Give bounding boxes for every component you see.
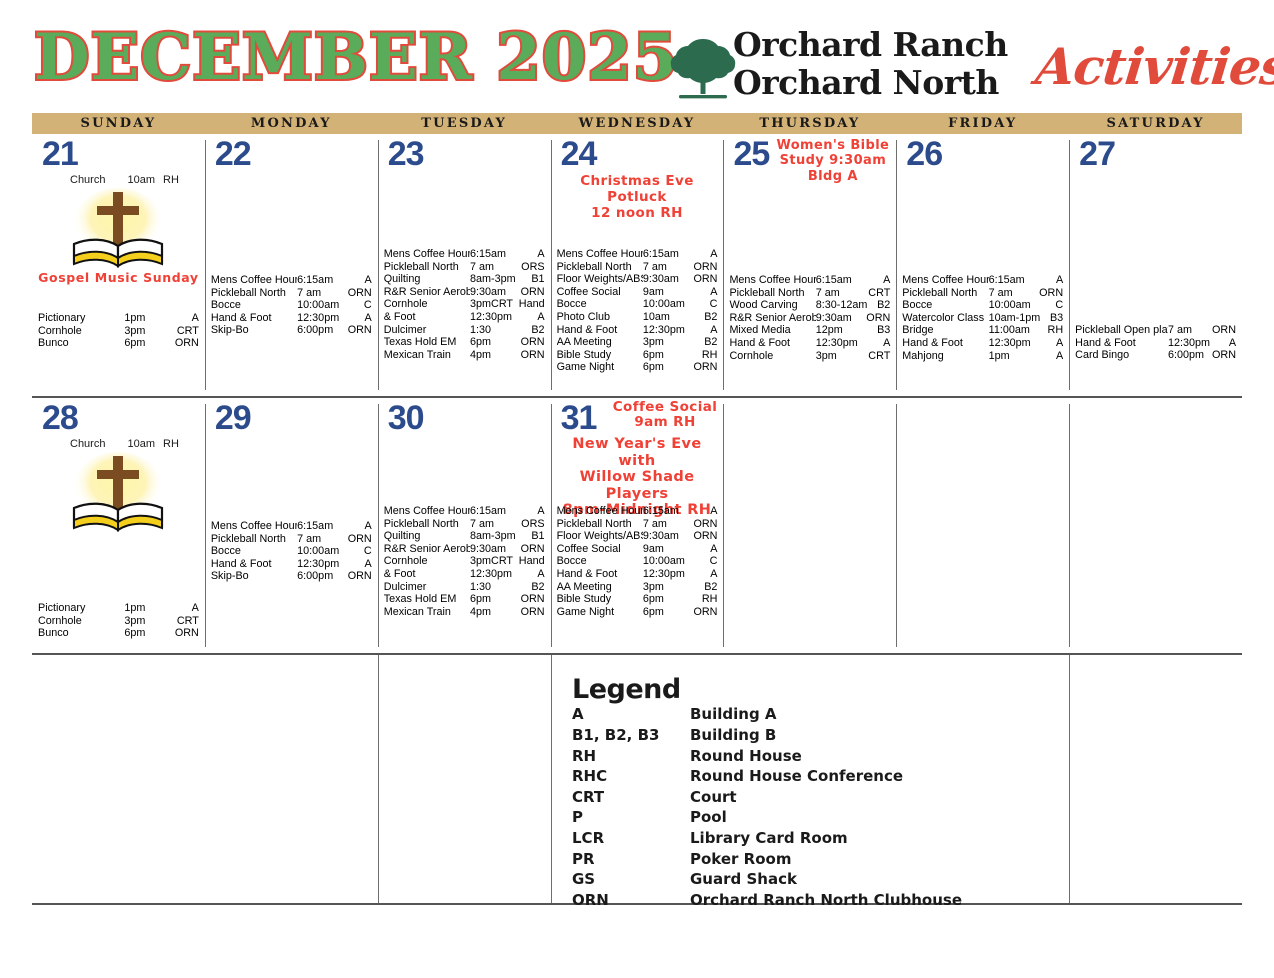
event-time: 8am-3pm [470,273,516,286]
event-time: 6:15am [643,505,689,518]
org-name-line2: Orchard North [733,64,1008,102]
day-cell-27[interactable]: 27 Pickleball Open play7 amORN Hand & Fo… [1069,134,1242,396]
page-header: DECEMBER 2025 Orchard Ranch Orchard Nort… [0,0,1274,108]
event-name: Floor Weights/ABS [557,273,643,286]
event-item[interactable]: Mixed Media12pmB3 [729,324,892,337]
event-location: ORN [688,273,719,286]
event-item[interactable]: Game Night6pmORN [557,606,720,619]
event-location: C [343,299,374,312]
legend-desc: Round House [690,746,1032,767]
event-name: Pickleball North [384,518,470,531]
event-list: Mens Coffee Hour6:15amA Pickleball North… [557,505,720,618]
event-item[interactable]: Hand & Foot12:30pmA [557,324,720,337]
event-location: A [170,602,201,615]
event-name: Bunco [38,627,124,640]
event-item[interactable]: Cornhole3pmCRTHand [384,555,547,568]
event-name: Bocce [557,555,643,568]
event-time: 10:00am [643,555,689,568]
event-location: A [1034,274,1065,287]
legend-desc: Library Card Room [690,828,1032,849]
event-item[interactable]: Mens Coffee Hour6:15amA [557,248,720,261]
event-item[interactable]: Hand & Foot12:30pmA [211,558,374,571]
event-name: Coffee Social [557,286,643,299]
tree-icon [666,33,740,107]
event-time: 10:00am [297,299,343,312]
event-name: Pictionary [38,602,124,615]
event-list: Mens Coffee Hour6:15amA Pickleball North… [211,520,374,583]
event-time: 7 am [470,261,516,274]
day-number: 22 [215,137,251,171]
legend-abbr: RHC [572,766,690,787]
event-time: 12:30pm [643,324,689,337]
event-location: B2 [516,581,547,594]
event-time: 12:30pm [1168,337,1207,350]
event-time: 6pm [470,336,516,349]
weekday-saturday: SATURDAY [1069,113,1242,134]
legend-item: GSGuard Shack [572,869,1032,890]
event-name: Mens Coffee Hour [384,248,470,261]
event-time: 12:30pm [297,558,343,571]
event-name: Texas Hold EM [384,593,470,606]
day-cell-26[interactable]: 26 Mens Coffee Hour6:15amA Pickleball No… [896,134,1069,396]
event-list: Mens Coffee Hour6:15amA Pickleball North… [557,248,720,374]
event-location: ORN [688,606,719,619]
event-location: B2 [688,581,719,594]
legend-desc: Pool [690,807,1032,828]
event-location: B3 [861,324,892,337]
event-item[interactable]: AA Meeting3pmB2 [557,581,720,594]
event-location: B1 [516,530,547,543]
event-name: Cornhole [38,615,124,628]
event-item[interactable]: Pickleball North7 amORN [211,287,374,300]
event-item[interactable]: Dulcimer1:30B2 [384,581,547,594]
legend-item: LCRLibrary Card Room [572,828,1032,849]
event-time: 1:30 [470,324,516,337]
event-item[interactable]: Photo Club10amB2 [557,311,720,324]
event-item[interactable]: Floor Weights/ABS9:30amORN [557,273,720,286]
cross-bible-icon [58,450,178,538]
event-location: A [688,248,719,261]
weekday-monday: MONDAY [205,113,378,134]
legend-item: PRPoker Room [572,849,1032,870]
event-name: R&R Senior Aerobics [384,286,470,299]
event-location: CRT [170,615,201,628]
legend-item: B1, B2, B3Building B [572,725,1032,746]
event-item[interactable]: Pickleball North7 amORN [902,287,1065,300]
event-item[interactable]: Mens Coffee Hour6:15amA [211,274,374,287]
day-cell-empty-thu [723,398,896,653]
event-location: A [516,568,547,581]
event-item[interactable]: Hand & Foot12:30pmA [557,568,720,581]
event-item[interactable]: Bible Study6pmRH [557,349,720,362]
event-time: 12:30pm [297,312,343,325]
day-cell-21[interactable]: 21 Church10amRH [32,134,205,396]
event-name: AA Meeting [557,581,643,594]
legend-abbr: A [572,704,690,725]
event-location: C [1034,299,1065,312]
event-time: 9am [643,543,689,556]
event-location: A [343,312,374,325]
event-name: Bocce [211,545,297,558]
event-location: ORN [516,349,547,362]
event-item[interactable]: Hand & Foot12:30pmA [1075,337,1238,350]
event-item[interactable]: Hand & Foot12:30pmA [211,312,374,325]
day-number: 24 [561,137,597,171]
event-time: 6:00pm [297,324,343,337]
event-list: Mens Coffee Hour6:15amA Pickleball North… [384,505,547,618]
event-item[interactable]: Quilting8am-3pmB1 [384,530,547,543]
event-name: Mens Coffee Hour [211,274,297,287]
legend-desc: Building A [690,704,1032,725]
event-item[interactable]: Cornhole3pmCRTHand [384,298,547,311]
event-name: Pickleball North [211,533,297,546]
event-location: B2 [688,311,719,324]
weekday-friday: FRIDAY [896,113,1069,134]
event-name: Mens Coffee Hour [902,274,988,287]
calendar-page: DECEMBER 2025 Orchard Ranch Orchard Nort… [0,0,1274,978]
legend: Legend ABuilding A B1, B2, B3Building B … [572,676,1032,910]
coffee-social-note: Coffee Social 9am RH [609,400,722,430]
event-time: 12:30pm [470,568,516,581]
event-time: 7 am [643,518,689,531]
event-item[interactable]: Pickleball North7 amORN [557,518,720,531]
weekday-tuesday: TUESDAY [378,113,551,134]
event-item[interactable]: Skip-Bo6:00pmORN [211,570,374,583]
legend-desc: Round House Conference [690,766,1032,787]
day-number: 28 [42,401,78,435]
event-time: 3pmCRT [470,298,516,311]
event-location: C [688,555,719,568]
church-location: RH [163,174,179,186]
event-location: ORN [688,518,719,531]
event-item[interactable]: R&R Senior Aerobics9:30amORN [729,312,892,325]
legend-abbr: PR [572,849,690,870]
day-cell-empty-fri [896,398,1069,653]
event-location: Hand [516,555,547,568]
event-location: B3 [1034,312,1065,325]
event-name: Coffee Social [557,543,643,556]
special-event-note: Christmas Eve Potluck 12 noon RH [559,174,716,222]
event-time: 12:30pm [816,337,862,350]
event-name: Pickleball North [211,287,297,300]
event-name: Hand & Foot [557,568,643,581]
event-time: 1pm [124,312,170,325]
event-name: Bible Study [557,349,643,362]
day-cell-25[interactable]: 25 Women's Bible Study 9:30am Bldg A Men… [723,134,896,396]
event-name: Pickleball North [902,287,988,300]
legend-desc: Orchard Ranch North Clubhouse [690,890,1032,911]
event-name: Hand & Foot [1075,337,1168,350]
special-event-note: Women's Bible Study 9:30am Bldg A [771,138,894,184]
event-time: 7 am [643,261,689,274]
day-number: 21 [42,137,78,171]
event-name: & Foot [384,568,470,581]
event-item[interactable]: Pickleball North7 amORN [557,261,720,274]
event-time: 6pm [124,337,170,350]
event-location: A [343,520,374,533]
event-item[interactable]: Bocce10:00amC [557,555,720,568]
event-item[interactable]: Pictionary1pmA [38,602,201,615]
event-item[interactable]: Cornhole3pmCRT [729,350,892,363]
event-item[interactable]: Mens Coffee Hour6:15amA [557,505,720,518]
legend-title: Legend [572,676,1032,704]
event-location: A [516,505,547,518]
event-item[interactable]: Mahjong1pmA [902,350,1065,363]
day-number: 27 [1079,137,1115,171]
event-time: 6:00pm [297,570,343,583]
event-item[interactable]: Bocce10:00amC [557,298,720,311]
event-item[interactable]: Texas Hold EM6pmORN [384,593,547,606]
event-item[interactable]: Pickleball Open play7 amORN [1075,324,1238,337]
event-time: 7 am [989,287,1035,300]
legend-item: ORNOrchard Ranch North Clubhouse [572,890,1032,911]
event-item[interactable]: Bocce10:00amC [902,299,1065,312]
day-number: 31 [561,401,597,435]
event-name: Hand & Foot [902,337,988,350]
weekday-thursday: THURSDAY [723,113,896,134]
event-item[interactable]: Pickleball North7 amORS [384,518,547,531]
event-location: A [343,274,374,287]
event-item[interactable]: R&R Senior Aerobics9:30amORN [384,286,547,299]
event-time: 6pm [643,606,689,619]
event-time: 4pm [470,349,516,362]
event-item[interactable]: Hand & Foot12:30pmA [902,337,1065,350]
event-item[interactable]: Pickleball North7 amORN [211,533,374,546]
day-number: 25 [733,137,769,171]
day-number: 26 [906,137,942,171]
event-location: ORN [343,324,374,337]
event-name: Cornhole [384,298,470,311]
event-location: A [343,558,374,571]
event-item[interactable]: Coffee Social9amA [557,286,720,299]
event-item[interactable]: Bridge11:00amRH [902,324,1065,337]
week-row: 21 Church10amRH [32,134,1242,398]
event-item[interactable]: Bocce10:00amC [211,299,374,312]
event-item[interactable]: & Foot12:30pmA [384,568,547,581]
event-name: Pickleball North [557,518,643,531]
event-name: Skip-Bo [211,570,297,583]
legend-cell-mon [205,655,378,903]
event-list: Pickleball Open play7 amORN Hand & Foot1… [1075,324,1238,362]
event-time: 12:30pm [470,311,516,324]
event-name: Bocce [557,298,643,311]
event-item[interactable]: Cornhole3pmCRT [38,615,201,628]
event-time: 9:30am [470,286,516,299]
event-location: ORN [343,570,374,583]
day-cell-30[interactable]: 30 Mens Coffee Hour6:15amA Pickleball No… [378,398,551,653]
event-name: AA Meeting [557,336,643,349]
event-location: ORN [688,361,719,374]
event-item[interactable]: Mens Coffee Hour6:15amA [211,520,374,533]
event-time: 6pm [124,627,170,640]
event-time: 9:30am [470,543,516,556]
event-time: 10:00am [643,298,689,311]
event-time: 3pm [124,325,170,338]
legend-desc: Court [690,787,1032,808]
event-item[interactable]: Texas Hold EM6pmORN [384,336,547,349]
event-time: 1pm [124,602,170,615]
legend-abbr: LCR [572,828,690,849]
event-item[interactable]: Pictionary1pmA [38,312,201,325]
event-item[interactable]: Skip-Bo6:00pmORN [211,324,374,337]
event-name: Cornhole [38,325,124,338]
event-name: Bible Study [557,593,643,606]
legend-cell-sat [1069,655,1242,903]
legend-abbr: P [572,807,690,828]
event-time: 10:00am [297,545,343,558]
legend-abbr: CRT [572,787,690,808]
event-time: 12:30pm [643,568,689,581]
event-item[interactable]: Watercolor Class10am-1pmB3 [902,312,1065,325]
legend-item: PPool [572,807,1032,828]
event-item[interactable]: Dulcimer1:30B2 [384,324,547,337]
event-name: Quilting [384,530,470,543]
event-item[interactable]: Mens Coffee Hour6:15amA [384,505,547,518]
event-time: 9:30am [816,312,862,325]
event-location: ORN [1207,349,1238,362]
event-list: Mens Coffee Hour6:15amA Pickleball North… [729,274,892,362]
event-item[interactable]: Bible Study6pmRH [557,593,720,606]
event-name: Game Night [557,606,643,619]
event-time: 11:00am [989,324,1035,337]
event-item[interactable]: Coffee Social9amA [557,543,720,556]
event-name: Dulcimer [384,581,470,594]
event-time: 6pm [643,361,689,374]
event-item[interactable]: Card Bingo6:00pmORN [1075,349,1238,362]
event-location: A [1034,350,1065,363]
church-time: 10am [127,174,155,186]
church-label: Church [70,174,105,186]
event-location: A [688,543,719,556]
day-cell-29[interactable]: 29 Mens Coffee Hour6:15amA Pickleball No… [205,398,378,653]
event-item[interactable]: & Foot12:30pmA [384,311,547,324]
event-item[interactable]: Hand & Foot12:30pmA [729,337,892,350]
event-location: B2 [861,299,892,312]
event-name: Mahjong [902,350,988,363]
event-list: Mens Coffee Hour6:15amA Pickleball North… [384,248,547,361]
event-item[interactable]: Floor Weights/ABS9:30amORN [557,530,720,543]
event-location: A [688,286,719,299]
gospel-music-caption: Gospel Music Sunday [32,270,205,285]
event-time: 12:30pm [989,337,1035,350]
event-name: Pickleball Open play [1075,324,1168,337]
legend-item: RHRound House [572,746,1032,767]
event-name: Bunco [38,337,124,350]
weekday-sunday: SUNDAY [32,113,205,134]
event-location: A [688,324,719,337]
event-location: A [688,505,719,518]
event-item[interactable]: Mexican Train4pmORN [384,606,547,619]
event-location: ORN [343,533,374,546]
event-location: ORN [1207,324,1238,337]
event-location: CRT [170,325,201,338]
event-item[interactable]: Pickleball North7 amCRT [729,287,892,300]
event-name: Hand & Foot [557,324,643,337]
event-item[interactable]: Mens Coffee Hour6:15amA [729,274,892,287]
event-name: Mexican Train [384,606,470,619]
legend-cell-tue [378,655,551,903]
event-list: Mens Coffee Hour6:15amA Pickleball North… [902,274,1065,362]
event-item[interactable]: Bunco6pmORN [38,627,201,640]
event-location: ORN [516,286,547,299]
event-location: ORN [343,287,374,300]
day-cell-28[interactable]: 28 Church10amRH [32,398,205,653]
weekday-wednesday: WEDNESDAY [551,113,724,134]
event-location: ORN [170,627,201,640]
event-item[interactable]: Quilting8am-3pmB1 [384,273,547,286]
event-name: Mens Coffee Hour [557,505,643,518]
legend-cell-sun [32,655,205,903]
event-time: 3pm [643,336,689,349]
event-list: Pictionary1pmA Cornhole3pmCRT Bunco6pmOR… [38,602,201,640]
event-time: 7 am [1168,324,1207,337]
event-name: Mens Coffee Hour [211,520,297,533]
event-location: C [688,298,719,311]
event-item[interactable]: Pickleball North7 amORS [384,261,547,274]
event-time: 6:15am [470,248,516,261]
legend-abbr: GS [572,869,690,890]
cross-bible-icon [58,186,178,274]
event-item[interactable]: Bunco6pmORN [38,337,201,350]
event-item[interactable]: Mexican Train4pmORN [384,349,547,362]
event-item[interactable]: Game Night6pmORN [557,361,720,374]
event-location: CRT [861,287,892,300]
legend-item: ABuilding A [572,704,1032,725]
event-name: R&R Senior Aerobics [729,312,815,325]
church-time: 10am [127,438,155,450]
event-item[interactable]: Bocce10:00amC [211,545,374,558]
day-number: 29 [215,401,251,435]
event-item[interactable]: Mens Coffee Hour6:15amA [902,274,1065,287]
church-location: RH [163,438,179,450]
event-location: RH [688,593,719,606]
day-cell-22[interactable]: 22 Mens Coffee Hour6:15amA Pickleball No… [205,134,378,396]
legend-desc: Poker Room [690,849,1032,870]
event-time: 6:15am [470,505,516,518]
event-location: A [170,312,201,325]
event-name: Mixed Media [729,324,815,337]
event-name: Mens Coffee Hour [729,274,815,287]
day-cell-24[interactable]: 24 Christmas Eve Potluck 12 noon RH Mens… [551,134,724,396]
event-list: Mens Coffee Hour6:15amA Pickleball North… [211,274,374,337]
event-item[interactable]: Wood Carving8:30-12amB2 [729,299,892,312]
event-location: ORS [516,261,547,274]
legend-item: CRTCourt [572,787,1032,808]
event-name: Hand & Foot [729,337,815,350]
legend-abbr: ORN [572,890,690,911]
church-service-line: Church10amRH [70,174,179,186]
event-item[interactable]: AA Meeting3pmB2 [557,336,720,349]
event-time: 3pm [816,350,862,363]
day-cell-23[interactable]: 23 Mens Coffee Hour6:15amA Pickleball No… [378,134,551,396]
legend-item: RHCRound House Conference [572,766,1032,787]
event-time: 3pm [643,581,689,594]
event-item[interactable]: Cornhole3pmCRT [38,325,201,338]
event-time: 7 am [297,533,343,546]
event-name: Pickleball North [557,261,643,274]
event-location: ORN [1034,287,1065,300]
day-number: 23 [388,137,424,171]
event-location: ORN [516,543,547,556]
event-item[interactable]: R&R Senior Aerobics9:30amORN [384,543,547,556]
event-time: 1pm [989,350,1035,363]
event-list: Pictionary1pmA Cornhole3pmCRT Bunco6pmOR… [38,312,201,350]
day-cell-31[interactable]: 31 Coffee Social 9am RH New Year's Eve w… [551,398,724,653]
event-name: Photo Club [557,311,643,324]
event-location: ORN [861,312,892,325]
event-item[interactable]: Mens Coffee Hour6:15amA [384,248,547,261]
activities-wordmark: Activities [1033,37,1274,96]
